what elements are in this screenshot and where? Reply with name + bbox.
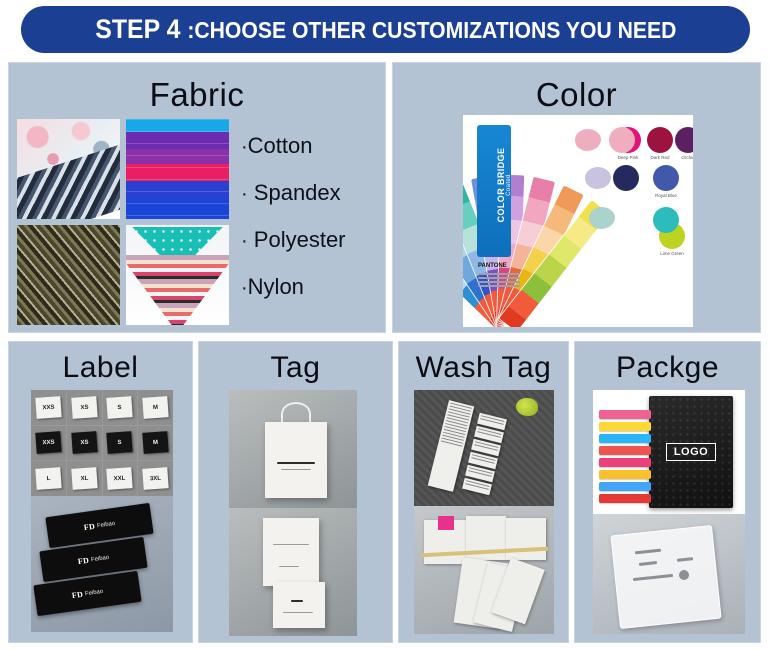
panel-label[interactable]: Label XXSXSSMXXSXSSMLXLXXL3XL FDFeibaoFD… bbox=[8, 341, 193, 643]
panel-tag[interactable]: Tag bbox=[198, 341, 393, 643]
size-label-text: XL bbox=[71, 467, 97, 490]
black-bubble-mailer-with-logo-photo: LOGO bbox=[593, 390, 745, 514]
white-hangtag-with-string-photo bbox=[229, 390, 357, 508]
size-label-text: XXL bbox=[107, 467, 133, 490]
size-label-tag: XXS bbox=[31, 426, 66, 461]
color-bridge-subtitle: Coated bbox=[506, 126, 511, 244]
color-swatch bbox=[613, 165, 639, 191]
pantone-brand-text: PANTONE bbox=[478, 263, 507, 269]
woven-brand-text: Feibao bbox=[91, 554, 110, 562]
bullet-icon: · bbox=[241, 136, 248, 158]
banner-area: STEP 4 :CHOOSE OTHER CUSTOMIZATIONS YOU … bbox=[0, 0, 769, 58]
color-swatch-label: Royal Blue bbox=[652, 193, 680, 198]
color-bridge-text: COLOR BRIDGE bbox=[496, 148, 506, 223]
colored-bubble-mailer bbox=[599, 434, 651, 443]
fan-cover-title: COLOR BRIDGE Coated bbox=[496, 126, 511, 244]
size-label-tag: XXS bbox=[31, 390, 66, 425]
size-label-tag: XS bbox=[67, 390, 102, 425]
label-title: Label bbox=[9, 350, 192, 386]
woven-labels-photo: FDFeibaoFDFeibaoFDFeibao bbox=[31, 496, 173, 632]
package-title: Packge bbox=[575, 350, 760, 386]
fan-deck-cover: COLOR BRIDGE Coated bbox=[477, 125, 511, 257]
care-labels-on-dark-background-photo bbox=[414, 390, 554, 506]
woven-monogram: FD bbox=[77, 556, 89, 566]
panel-wash-tag[interactable]: Wash Tag bbox=[398, 341, 569, 643]
color-swatch bbox=[653, 165, 679, 191]
size-label-text: 3XL bbox=[142, 467, 168, 490]
fabric-type-list: ·Cotton · Spandex · Polyester ·Nylon bbox=[241, 123, 381, 311]
wash-tag-title: Wash Tag bbox=[399, 350, 568, 386]
color-title: Color bbox=[393, 75, 760, 115]
color-swatch-label: Orchid bbox=[674, 155, 693, 160]
step-banner: STEP 4 :CHOOSE OTHER CUSTOMIZATIONS YOU … bbox=[21, 6, 750, 53]
mailer-logo-text: LOGO bbox=[666, 443, 716, 461]
woven-brand-text: Feibao bbox=[85, 588, 104, 596]
colored-bubble-mailer bbox=[599, 458, 651, 467]
bullet-icon: · bbox=[241, 230, 248, 252]
size-label-tag: M bbox=[138, 426, 173, 461]
fabric-list-item: · Spandex bbox=[241, 170, 381, 217]
colored-bubble-mailer bbox=[599, 470, 651, 479]
panel-fabric[interactable]: Fabric ·Cotton · Spandex · Polyester ·Ny… bbox=[8, 62, 386, 333]
color-swatch-label: Deep Pink bbox=[614, 155, 642, 160]
woven-monogram: FD bbox=[83, 522, 95, 532]
size-label-text: L bbox=[35, 467, 61, 490]
polka-dot-fabric-stack-photo bbox=[126, 225, 229, 325]
fabric-title: Fabric bbox=[9, 75, 385, 115]
colored-bubble-mailer bbox=[599, 410, 651, 419]
banner-text: STEP 4 :CHOOSE OTHER CUSTOMIZATIONS YOU … bbox=[95, 14, 676, 45]
colored-bubble-mailer bbox=[599, 494, 651, 503]
fabric-item-label: Nylon bbox=[248, 274, 304, 299]
tag-title: Tag bbox=[199, 350, 392, 386]
size-label-text: XS bbox=[71, 396, 97, 419]
layered-white-hangtags-photo bbox=[229, 508, 357, 636]
pink-marker-tag bbox=[438, 516, 454, 530]
fabric-photo-grid bbox=[17, 119, 232, 327]
bullet-icon: · bbox=[241, 183, 248, 205]
pantone-color-bridge-fan-deck-photo: COLOR BRIDGE Coated PANTONE Deep PinkDar… bbox=[463, 115, 693, 327]
size-labels-photo: XXSXSSMXXSXSSMLXLXXL3XL bbox=[31, 390, 173, 496]
knit-textured-fabric-photo bbox=[17, 225, 120, 325]
pantone-caption-lines bbox=[478, 273, 520, 289]
panel-color[interactable]: Color COLOR BRIDGE Coated PANTONE Deep P… bbox=[392, 62, 761, 333]
color-swatch bbox=[653, 207, 679, 233]
color-swatch bbox=[647, 127, 673, 153]
size-label-tag: S bbox=[103, 426, 138, 461]
colored-bubble-mailer bbox=[599, 482, 651, 491]
size-label-text: M bbox=[142, 396, 168, 419]
panel-package[interactable]: Packge LOGO bbox=[574, 341, 761, 643]
fabric-item-label: Cotton bbox=[248, 133, 313, 158]
step4-customization-infographic: STEP 4 :CHOOSE OTHER CUSTOMIZATIONS YOU … bbox=[0, 0, 769, 649]
banner-rest-label: :CHOOSE OTHER CUSTOMIZATIONS YOU NEED bbox=[187, 17, 676, 43]
banner-step-label: STEP 4 bbox=[95, 14, 187, 44]
size-label-text: XS bbox=[71, 431, 97, 454]
size-label-tag: XXL bbox=[103, 461, 138, 496]
bottom-panel-row: Label XXSXSSMXXSXSSMLXLXXL3XL FDFeibaoFD… bbox=[8, 341, 761, 643]
wash-label-bundle bbox=[506, 518, 546, 560]
fabric-body: ·Cotton · Spandex · Polyester ·Nylon bbox=[9, 119, 385, 333]
solid-color-fabric-rolls-photo bbox=[126, 119, 229, 219]
fabric-list-item: · Polyester bbox=[241, 217, 381, 264]
color-swatch-label: Lime Green bbox=[658, 251, 686, 256]
fabric-list-item: ·Cotton bbox=[241, 123, 381, 170]
floral-print-fabric-swatch-photo bbox=[17, 119, 120, 219]
clear-zip-poly-bag-photo bbox=[593, 514, 745, 634]
bundled-wash-care-labels-photo bbox=[414, 506, 554, 634]
bullet-icon: · bbox=[241, 277, 248, 299]
fabric-list-item: ·Nylon bbox=[241, 264, 381, 311]
size-label-tag: XL bbox=[67, 461, 102, 496]
colored-bubble-mailer bbox=[599, 446, 651, 455]
fabric-item-label: Spandex bbox=[254, 180, 341, 205]
size-label-text: M bbox=[142, 431, 168, 454]
size-label-tag: 3XL bbox=[138, 461, 173, 496]
size-label-tag: XS bbox=[67, 426, 102, 461]
size-label-text: S bbox=[107, 431, 133, 454]
size-label-tag: S bbox=[103, 390, 138, 425]
woven-brand-text: Feibao bbox=[97, 520, 116, 528]
woven-monogram: FD bbox=[71, 590, 83, 600]
size-label-text: XXS bbox=[35, 431, 61, 454]
fabric-item-label: Polyester bbox=[254, 227, 346, 252]
leaf-decoration bbox=[516, 398, 538, 416]
color-swatch-label: Dark Red bbox=[646, 155, 674, 160]
size-label-text: S bbox=[107, 396, 133, 419]
size-label-text: XXS bbox=[35, 396, 61, 419]
color-swatch bbox=[609, 127, 635, 153]
size-label-tag: L bbox=[31, 461, 66, 496]
colored-bubble-mailer bbox=[599, 422, 651, 431]
top-panel-row: Fabric ·Cotton · Spandex · Polyester ·Ny… bbox=[8, 62, 761, 333]
size-label-tag: M bbox=[138, 390, 173, 425]
